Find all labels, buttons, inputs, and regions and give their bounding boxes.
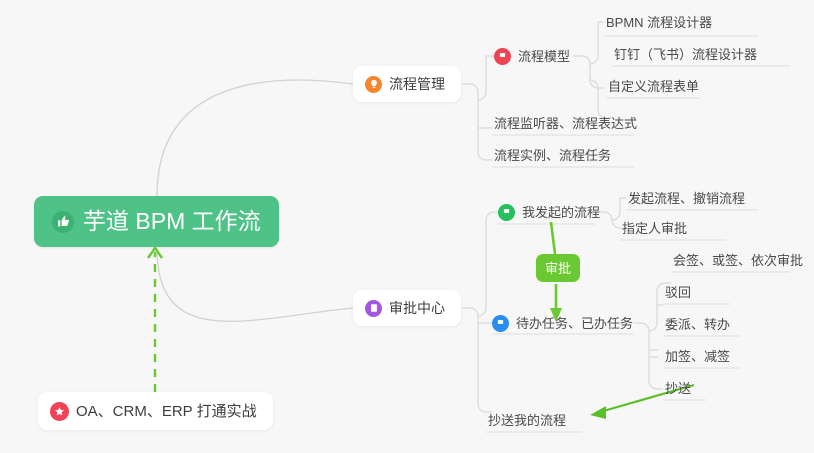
leaf-add-remove-sign[interactable]: 加签、减签: [663, 343, 734, 369]
node-label: 待办任务、已办任务: [516, 317, 633, 330]
leaf-bpmn-designer[interactable]: BPMN 流程设计器: [604, 9, 716, 35]
node-process-instance-task[interactable]: 流程实例、流程任务: [492, 142, 615, 168]
edge-model-bracket: [573, 56, 604, 88]
edge-root-to-approval-center: [157, 248, 353, 321]
annotation-approval-badge: 审批: [536, 254, 580, 282]
star-icon: [50, 402, 69, 421]
leaf-delegate-transfer[interactable]: 委派、转办: [663, 311, 734, 337]
node-label: 流程监听器、流程表达式: [494, 117, 637, 130]
node-cc-to-me-process[interactable]: 抄送我的流程: [486, 407, 570, 433]
mindmap-canvas: 芋道 BPM 工作流 流程管理 流程模型 BPMN 流程设计器 钉钉（飞书）流程…: [0, 0, 814, 453]
edge-ac-to-started: [478, 212, 498, 316]
arrow-approval-flow: [551, 222, 555, 254]
edge-pm-bracket: [462, 84, 492, 160]
flag-icon: [498, 204, 515, 221]
leaf-label: 委派、转办: [665, 318, 730, 331]
leaf-label: 驳回: [665, 286, 691, 299]
leaf-label: 抄送: [665, 382, 691, 395]
edge-ac-bracket: [462, 308, 492, 412]
branch-label: 流程管理: [389, 77, 445, 91]
leaf-label: 钉钉（飞书）流程设计器: [614, 48, 757, 61]
flag-icon: [492, 315, 509, 332]
edge-todo-bracket: [634, 323, 663, 389]
node-label: 我发起的流程: [522, 206, 600, 219]
leaf-assignee-approval[interactable]: 指定人审批: [620, 215, 691, 241]
leaf-label: 发起流程、撤销流程: [628, 192, 745, 205]
leaf-countersign[interactable]: 会签、或签、依次审批: [671, 247, 807, 273]
leaf-label: BPMN 流程设计器: [606, 16, 712, 29]
bottom-annotation-node[interactable]: OA、CRM、ERP 打通实战: [38, 392, 273, 430]
bottom-annotation-label: OA、CRM、ERP 打通实战: [76, 404, 257, 419]
edge-root-to-process-management: [157, 80, 353, 196]
node-process-model[interactable]: 流程模型: [494, 43, 574, 69]
badge-label: 审批: [545, 262, 571, 275]
arrowhead-bottom-to-root: [148, 248, 162, 258]
leaf-custom-process-form[interactable]: 自定义流程表单: [606, 73, 703, 99]
clipboard-icon: [365, 300, 382, 317]
leaf-label: 加签、减签: [665, 350, 730, 363]
branch-approval-center[interactable]: 审批中心: [353, 290, 461, 326]
root-node[interactable]: 芋道 BPM 工作流: [34, 196, 279, 247]
node-process-listener-expression[interactable]: 流程监听器、流程表达式: [492, 110, 641, 136]
branch-label: 审批中心: [389, 301, 445, 315]
branch-process-management[interactable]: 流程管理: [353, 66, 461, 102]
node-label: 流程实例、流程任务: [494, 149, 611, 162]
leaf-label: 会签、或签、依次审批: [673, 254, 803, 267]
root-label: 芋道 BPM 工作流: [83, 210, 261, 233]
edge-pm-to-model: [478, 56, 494, 100]
leaf-dingtalk-feishu-designer[interactable]: 钉钉（飞书）流程设计器: [612, 41, 761, 67]
node-label: 流程模型: [518, 50, 570, 63]
lightbulb-icon: [365, 76, 382, 93]
leaf-start-cancel-process[interactable]: 发起流程、撤销流程: [626, 185, 749, 211]
flag-icon: [494, 48, 511, 65]
leaf-label: 自定义流程表单: [608, 80, 699, 93]
node-label: 抄送我的流程: [488, 414, 566, 427]
leaf-reject[interactable]: 驳回: [663, 279, 695, 305]
edge-model-to-bpmn: [590, 22, 604, 64]
leaf-cc[interactable]: 抄送: [663, 375, 695, 401]
thumbs-up-icon: [52, 211, 74, 233]
leaf-label: 指定人审批: [622, 222, 687, 235]
arrowhead-cc-flow: [590, 406, 606, 419]
node-todo-done-task[interactable]: 待办任务、已办任务: [492, 310, 637, 336]
node-my-started-process[interactable]: 我发起的流程: [498, 199, 604, 225]
